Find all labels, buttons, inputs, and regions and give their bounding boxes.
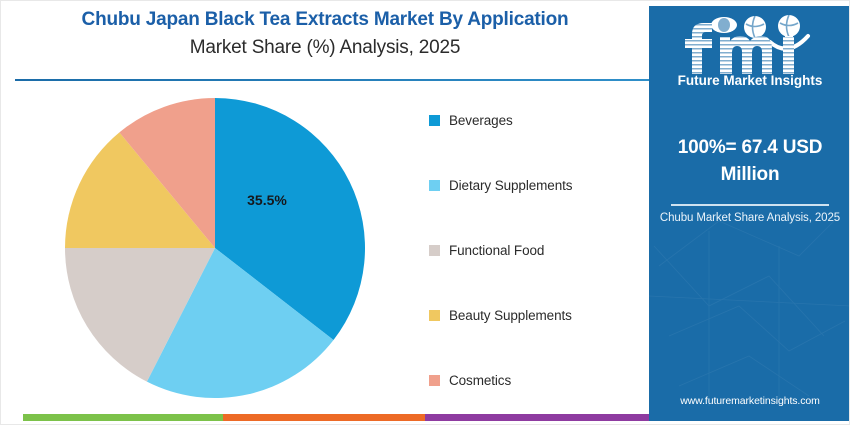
- kpi-line-1: 100%= 67.4 USD: [659, 134, 841, 161]
- pie-chart-svg: 35.5%: [65, 98, 365, 398]
- kpi-value-block: 100%= 67.4 USD Million: [659, 134, 841, 188]
- title-block: Chubu Japan Black Tea Extracts Market By…: [1, 7, 649, 63]
- legend-swatch-icon: [429, 245, 440, 256]
- pie-chart: 35.5%: [65, 98, 365, 398]
- legend-item-label: Beauty Supplements: [449, 308, 572, 323]
- legend-swatch-icon: [429, 375, 440, 386]
- accent-bar: [23, 414, 649, 421]
- legend-item-label: Functional Food: [449, 243, 544, 258]
- legend-item-beverages[interactable]: Beverages: [429, 109, 644, 131]
- fmi-logo-tagline: Future Market Insights: [678, 73, 823, 88]
- fmi-logo: Future Market Insights: [649, 12, 850, 95]
- fmi-logo-icon: Future Market Insights: [662, 12, 838, 90]
- infographic-root: Chubu Japan Black Tea Extracts Market By…: [0, 0, 850, 425]
- chart-pane: Chubu Japan Black Tea Extracts Market By…: [1, 1, 649, 425]
- legend-item-label: Dietary Supplements: [449, 178, 572, 193]
- website-url[interactable]: www.futuremarketinsights.com: [649, 395, 850, 407]
- legend-swatch-icon: [429, 180, 440, 191]
- green-segment: [23, 414, 223, 421]
- legend-item-dietary-supplements[interactable]: Dietary Supplements: [429, 174, 644, 196]
- page-subtitle: Market Share (%) Analysis, 2025: [1, 33, 649, 63]
- legend-swatch-icon: [429, 310, 440, 321]
- kpi-caption: Chubu Market Share Analysis, 2025: [655, 212, 845, 224]
- legend-item-label: Cosmetics: [449, 373, 511, 388]
- header-divider: [15, 79, 649, 81]
- kpi-line-2: Million: [659, 161, 841, 188]
- purple-segment: [425, 414, 649, 421]
- legend-item-beauty-supplements[interactable]: Beauty Supplements: [429, 304, 644, 326]
- kpi-divider: [671, 204, 829, 206]
- legend-swatch-icon: [429, 115, 440, 126]
- orange-segment: [223, 414, 425, 421]
- legend-item-functional-food[interactable]: Functional Food: [429, 239, 644, 261]
- page-title: Chubu Japan Black Tea Extracts Market By…: [1, 7, 649, 33]
- brand-panel: Future Market Insights 100%= 67.4 USD Mi…: [649, 6, 850, 421]
- pie-slice-label-beverages: 35.5%: [247, 192, 287, 208]
- legend-item-cosmetics[interactable]: Cosmetics: [429, 369, 644, 391]
- chart-legend: BeveragesDietary SupplementsFunctional F…: [429, 109, 644, 425]
- legend-item-label: Beverages: [449, 113, 513, 128]
